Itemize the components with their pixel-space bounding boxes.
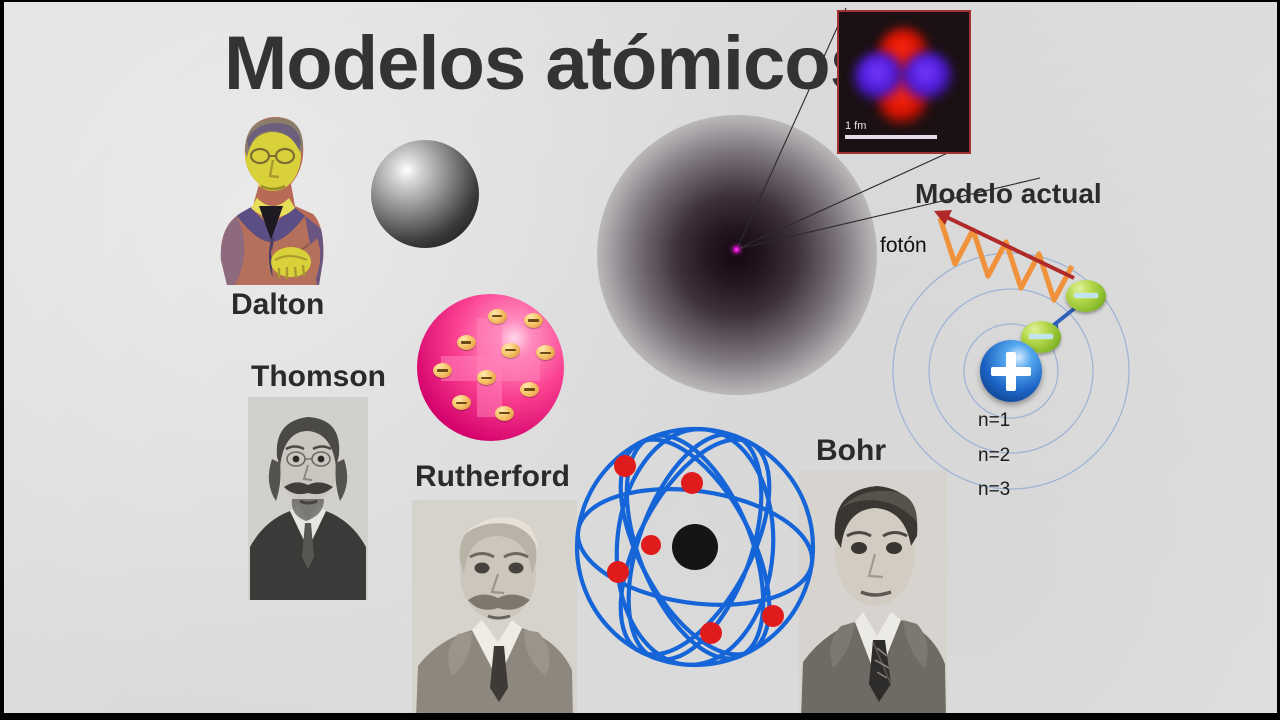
shell-label-n1: n=1: [978, 410, 1010, 432]
electron-cloud: [597, 115, 877, 395]
neutron-blob: [902, 52, 954, 104]
foton-label: fotón: [880, 234, 927, 258]
letterbox-left: [0, 0, 4, 720]
electron-particle: [520, 382, 539, 397]
positive-nucleus: [980, 340, 1042, 402]
nucleus-inset-panel: 1 fm: [837, 10, 971, 154]
electron-outer: [1066, 280, 1106, 312]
page-title: Modelos atómicos: [224, 20, 871, 107]
orbital-atom-model: [568, 425, 823, 675]
dalton-portrait: [213, 110, 330, 285]
positive-charge-plus-vertical: [477, 318, 502, 418]
neutron-blob: [854, 52, 906, 104]
shell-label-n2: n=2: [978, 445, 1010, 467]
thomson-portrait-art: [248, 397, 368, 600]
shell-label-n3: n=3: [978, 479, 1010, 501]
plus-vertical: [1006, 352, 1016, 391]
scale-bar: [845, 135, 937, 139]
letterbox-bottom: [0, 713, 1280, 720]
thomson-portrait: [248, 397, 368, 600]
modelo-actual-title: Modelo actual: [915, 178, 1102, 210]
electron-particle: [452, 395, 471, 410]
bohr-label: Bohr: [816, 434, 886, 468]
electron-particle: [488, 309, 507, 324]
dalton-label: Dalton: [231, 288, 324, 322]
thomson-plum-pudding-model: [417, 294, 564, 441]
orbital-nucleus: [672, 524, 718, 570]
cloud-nucleus-dot: [733, 246, 740, 253]
scale-bar-label: 1 fm: [845, 120, 866, 132]
slide-canvas: Modelos atómicos: [0, 0, 1280, 720]
photon-wave: [940, 218, 1072, 300]
thomson-positive-sphere: [417, 294, 564, 441]
rutherford-label: Rutherford: [415, 460, 570, 494]
orbital-atom-art: [568, 425, 823, 675]
electron-particle: [524, 313, 543, 328]
dalton-portrait-art: [213, 110, 330, 285]
letterbox-top: [0, 0, 1280, 2]
electron-particle: [536, 345, 555, 360]
rutherford-portrait-art: [412, 500, 577, 720]
electron-particle: [495, 406, 514, 421]
dalton-model-sphere: [371, 140, 479, 248]
thomson-label: Thomson: [251, 360, 386, 394]
electron-particle: [457, 335, 476, 350]
electron-particle: [501, 343, 520, 358]
rutherford-portrait: [412, 500, 577, 720]
